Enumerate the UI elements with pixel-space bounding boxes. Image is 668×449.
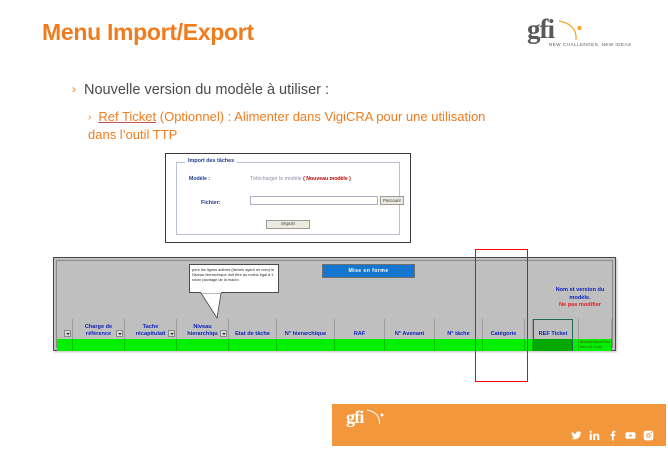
bullet-level2-highlight: Ref Ticket <box>98 109 156 124</box>
import-fieldset-legend: Import des tâches <box>185 158 237 164</box>
modele-note-warning: Ne pas modifier <box>552 302 608 310</box>
column-header-row: Charge de référenceTache récapitulatiNiv… <box>57 319 612 339</box>
footer-bar: gfi <box>332 404 666 446</box>
page-title: Menu Import/Export <box>42 19 254 46</box>
column-header-ref-ticket: REF Ticket <box>533 319 573 339</box>
gfi-tagline: NEW CHALLENGES, NEW IDEAS <box>549 42 631 47</box>
fichier-label: Fichier: <box>201 200 220 206</box>
chevron-right-icon-2: › <box>88 112 91 123</box>
modele-label: Modèle : <box>189 176 210 182</box>
column-header-note-area <box>579 319 612 339</box>
twitter-icon[interactable] <box>571 430 582 441</box>
social-links <box>571 430 654 441</box>
linkedin-icon[interactable] <box>589 430 600 441</box>
facebook-icon[interactable] <box>607 430 618 441</box>
gfi-wordmark: gfi <box>527 16 554 43</box>
column-header-label: Etat de tâche <box>233 331 272 338</box>
callout-tail-icon <box>177 292 257 318</box>
template-filename-cell[interactable]: ModeleImportTaches-V2-3.xls <box>579 339 612 351</box>
excel-sheet-area: pour les lignes actives (tâches ayant un… <box>56 260 613 348</box>
filter-dropdown-icon[interactable] <box>168 330 175 337</box>
gfi-swoosh-icon <box>558 20 588 44</box>
column-header-tache-r-capitulati: Tache récapitulati <box>125 319 177 339</box>
telecharger-text: Télécharger le modèle <box>250 176 303 182</box>
import-dialog-screenshot: Import des tâches Modèle : Télécharger l… <box>165 153 411 243</box>
youtube-icon[interactable] <box>625 430 636 441</box>
column-header-blank-0 <box>57 319 73 339</box>
fichier-input[interactable] <box>250 196 378 205</box>
excel-template-screenshot: pour les lignes actives (tâches ayant un… <box>53 257 616 351</box>
footer-gfi-wordmark: gfi <box>346 408 364 426</box>
gfi-logo: gfi NEW CHALLENGES, NEW IDEAS <box>527 20 639 56</box>
column-header-charge-de-r-f-rence: Charge de référence <box>73 319 125 339</box>
modele-version-note: Nom et version du modèle. Ne pas modifie… <box>552 287 608 310</box>
telecharger-modele-link[interactable]: Télécharger le modèle ( Nouveau modèle ) <box>250 176 351 182</box>
footer-gfi-swoosh-icon <box>366 409 388 427</box>
column-header-niveau-hierarchiqu: Niveau hierarchiqu <box>177 319 229 339</box>
chevron-right-icon: › <box>72 82 76 96</box>
nouveau-modele-link[interactable]: ( Nouveau modèle ) <box>303 176 351 182</box>
column-header-label: N° hierarchique <box>283 331 328 338</box>
ref-ticket-highlight-box <box>475 249 528 382</box>
modele-note-blue: Nom et version du modèle. <box>556 287 605 301</box>
green-cell-5[interactable] <box>277 339 335 351</box>
import-fieldset: Import des tâches Modèle : Télécharger l… <box>176 162 400 235</box>
green-cell-1[interactable] <box>73 339 125 351</box>
green-cell-3[interactable] <box>177 339 229 351</box>
green-cell-2[interactable] <box>125 339 177 351</box>
green-cell-6[interactable] <box>335 339 385 351</box>
column-header-label: REF Ticket <box>537 331 570 338</box>
column-header-raf: RAF <box>335 319 385 339</box>
macro-warning-callout: pour les lignes actives (tâches ayant un… <box>189 264 279 293</box>
green-cell-11[interactable] <box>533 339 573 351</box>
mise-en-forme-button[interactable]: Mise en forme <box>322 264 415 278</box>
filter-dropdown-icon[interactable] <box>116 330 123 337</box>
filter-dropdown-icon[interactable] <box>220 330 227 337</box>
column-header-n-avenant: N° Avenant <box>385 319 435 339</box>
green-cell-7[interactable] <box>385 339 435 351</box>
bullet-level2: ›Ref Ticket (Optionnel) : Alimenter dans… <box>88 108 508 143</box>
import-button[interactable]: Import <box>266 220 310 229</box>
parcourir-button[interactable]: Parcourir <box>380 196 404 205</box>
column-header-label: RAF <box>352 331 368 338</box>
filter-dropdown-icon[interactable] <box>64 330 71 337</box>
instagram-icon[interactable] <box>643 430 654 441</box>
green-cell-0[interactable] <box>57 339 73 351</box>
column-header-label: N° Avenant <box>393 331 426 338</box>
column-header-etat-de-t-che: Etat de tâche <box>229 319 277 339</box>
column-header-n-hierarchique: N° hierarchique <box>277 319 335 339</box>
bullet-level1: ›Nouvelle version du modèle à utiliser : <box>72 82 329 98</box>
column-header-label: N° tâche <box>445 331 471 338</box>
bullet-level1-text: Nouvelle version du modèle à utiliser : <box>84 82 329 98</box>
green-cell-4[interactable] <box>229 339 277 351</box>
green-data-row: ModeleImportTaches-V2-3.xls <box>57 339 612 351</box>
